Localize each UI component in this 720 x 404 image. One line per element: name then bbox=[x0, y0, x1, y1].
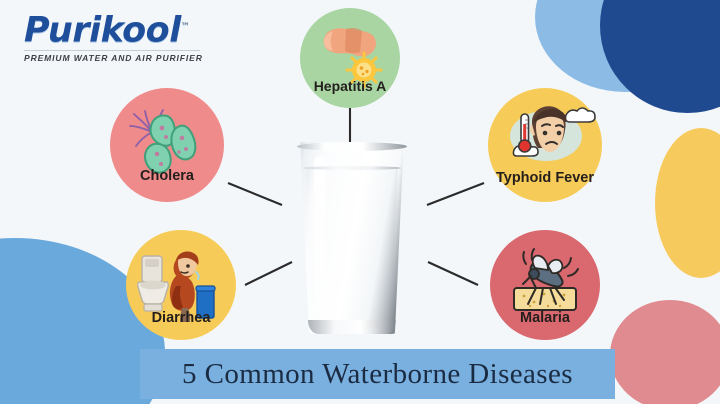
connector-line-diarrhea bbox=[245, 262, 292, 285]
thermometer-shape bbox=[519, 114, 531, 152]
brand-name: Purikool™ bbox=[24, 10, 214, 49]
background-blob-gold-right bbox=[655, 128, 720, 278]
disease-node-cholera[interactable]: Cholera bbox=[110, 88, 224, 202]
disease-label-diarrhea: Diarrhea bbox=[71, 310, 291, 326]
disease-node-malaria[interactable]: Malaria bbox=[490, 230, 600, 340]
disease-label-typhoid-fever: Typhoid Fever bbox=[431, 170, 659, 186]
disease-node-typhoid-fever[interactable]: Typhoid Fever bbox=[488, 88, 602, 202]
glass-base bbox=[308, 320, 396, 334]
disease-label-malaria: Malaria bbox=[435, 310, 655, 326]
toilet-shape bbox=[138, 256, 169, 311]
glass-rim bbox=[297, 142, 407, 151]
page-title: 5 Common Waterborne Diseases bbox=[182, 358, 573, 391]
infographic-canvas: Purikool™ PREMIUM WATER AND AIR PURIFIER bbox=[0, 0, 720, 404]
glass-water-surface bbox=[303, 166, 401, 170]
glass-of-water-icon bbox=[288, 142, 416, 342]
trademark-symbol: ™ bbox=[181, 22, 190, 32]
connector-line-malaria bbox=[428, 262, 478, 285]
vibrio-bacteria-icon bbox=[110, 88, 224, 202]
disease-node-hepatitis-a[interactable]: Hepatitis A bbox=[300, 8, 400, 108]
glass-highlight bbox=[314, 156, 325, 316]
disease-label-hepatitis-a: Hepatitis A bbox=[250, 78, 450, 94]
brand-name-text: Purikool bbox=[24, 11, 181, 51]
brand-logo: Purikool™ PREMIUM WATER AND AIR PURIFIER bbox=[24, 10, 214, 60]
disease-label-cholera: Cholera bbox=[53, 168, 281, 184]
skin-patch-shape bbox=[514, 288, 576, 310]
connector-line-cholera bbox=[228, 183, 282, 205]
connector-line-typhoid bbox=[427, 183, 484, 205]
brand-tagline: PREMIUM WATER AND AIR PURIFIER bbox=[24, 53, 214, 63]
disease-node-diarrhea[interactable]: Diarrhea bbox=[126, 230, 236, 340]
background-blob-navy-top-right bbox=[600, 0, 720, 113]
title-banner: 5 Common Waterborne Diseases bbox=[140, 349, 615, 399]
